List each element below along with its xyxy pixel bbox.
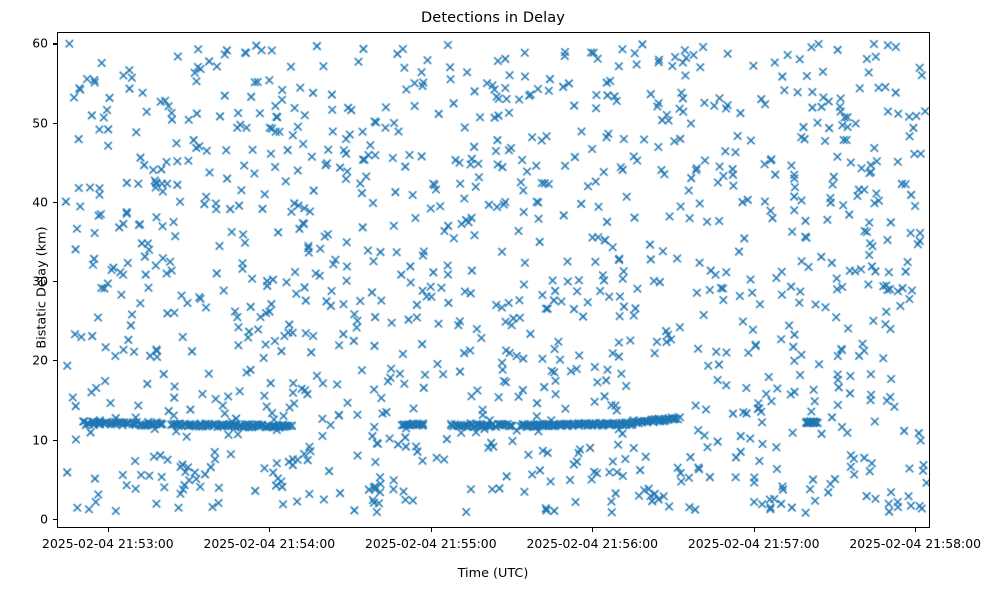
- y-tick-mark: [53, 43, 57, 44]
- x-axis-label: Time (UTC): [0, 566, 986, 581]
- plot-axes: [57, 32, 930, 528]
- y-tick-mark: [53, 123, 57, 124]
- x-tick-mark: [915, 528, 916, 532]
- y-tick-label: 10: [0, 432, 48, 447]
- y-tick-label: 60: [0, 36, 48, 51]
- x-tick-label: 2025-02-04 21:56:00: [526, 536, 658, 551]
- x-tick-mark: [754, 528, 755, 532]
- x-tick-label: 2025-02-04 21:54:00: [204, 536, 336, 551]
- x-tick-mark: [108, 528, 109, 532]
- x-tick-mark: [269, 528, 270, 532]
- matplotlib-figure: Detections in Delay 0102030405060 2025-0…: [0, 0, 986, 590]
- y-tick-mark: [53, 281, 57, 282]
- x-tick-label: 2025-02-04 21:53:00: [42, 536, 174, 551]
- scatter-plot-canvas: [58, 33, 930, 528]
- page-title: Detections in Delay: [0, 10, 986, 26]
- x-tick-mark: [431, 528, 432, 532]
- x-tick-mark: [592, 528, 593, 532]
- y-tick-label: 0: [0, 511, 48, 526]
- y-tick-mark: [53, 519, 57, 520]
- y-tick-label: 50: [0, 115, 48, 130]
- x-tick-label: 2025-02-04 21:55:00: [365, 536, 497, 551]
- y-tick-mark: [53, 202, 57, 203]
- y-tick-mark: [53, 440, 57, 441]
- y-tick-mark: [53, 360, 57, 361]
- x-tick-label: 2025-02-04 21:57:00: [688, 536, 820, 551]
- y-axis-label: Bistatic Delay (km): [35, 188, 50, 388]
- x-tick-label: 2025-02-04 21:58:00: [849, 536, 981, 551]
